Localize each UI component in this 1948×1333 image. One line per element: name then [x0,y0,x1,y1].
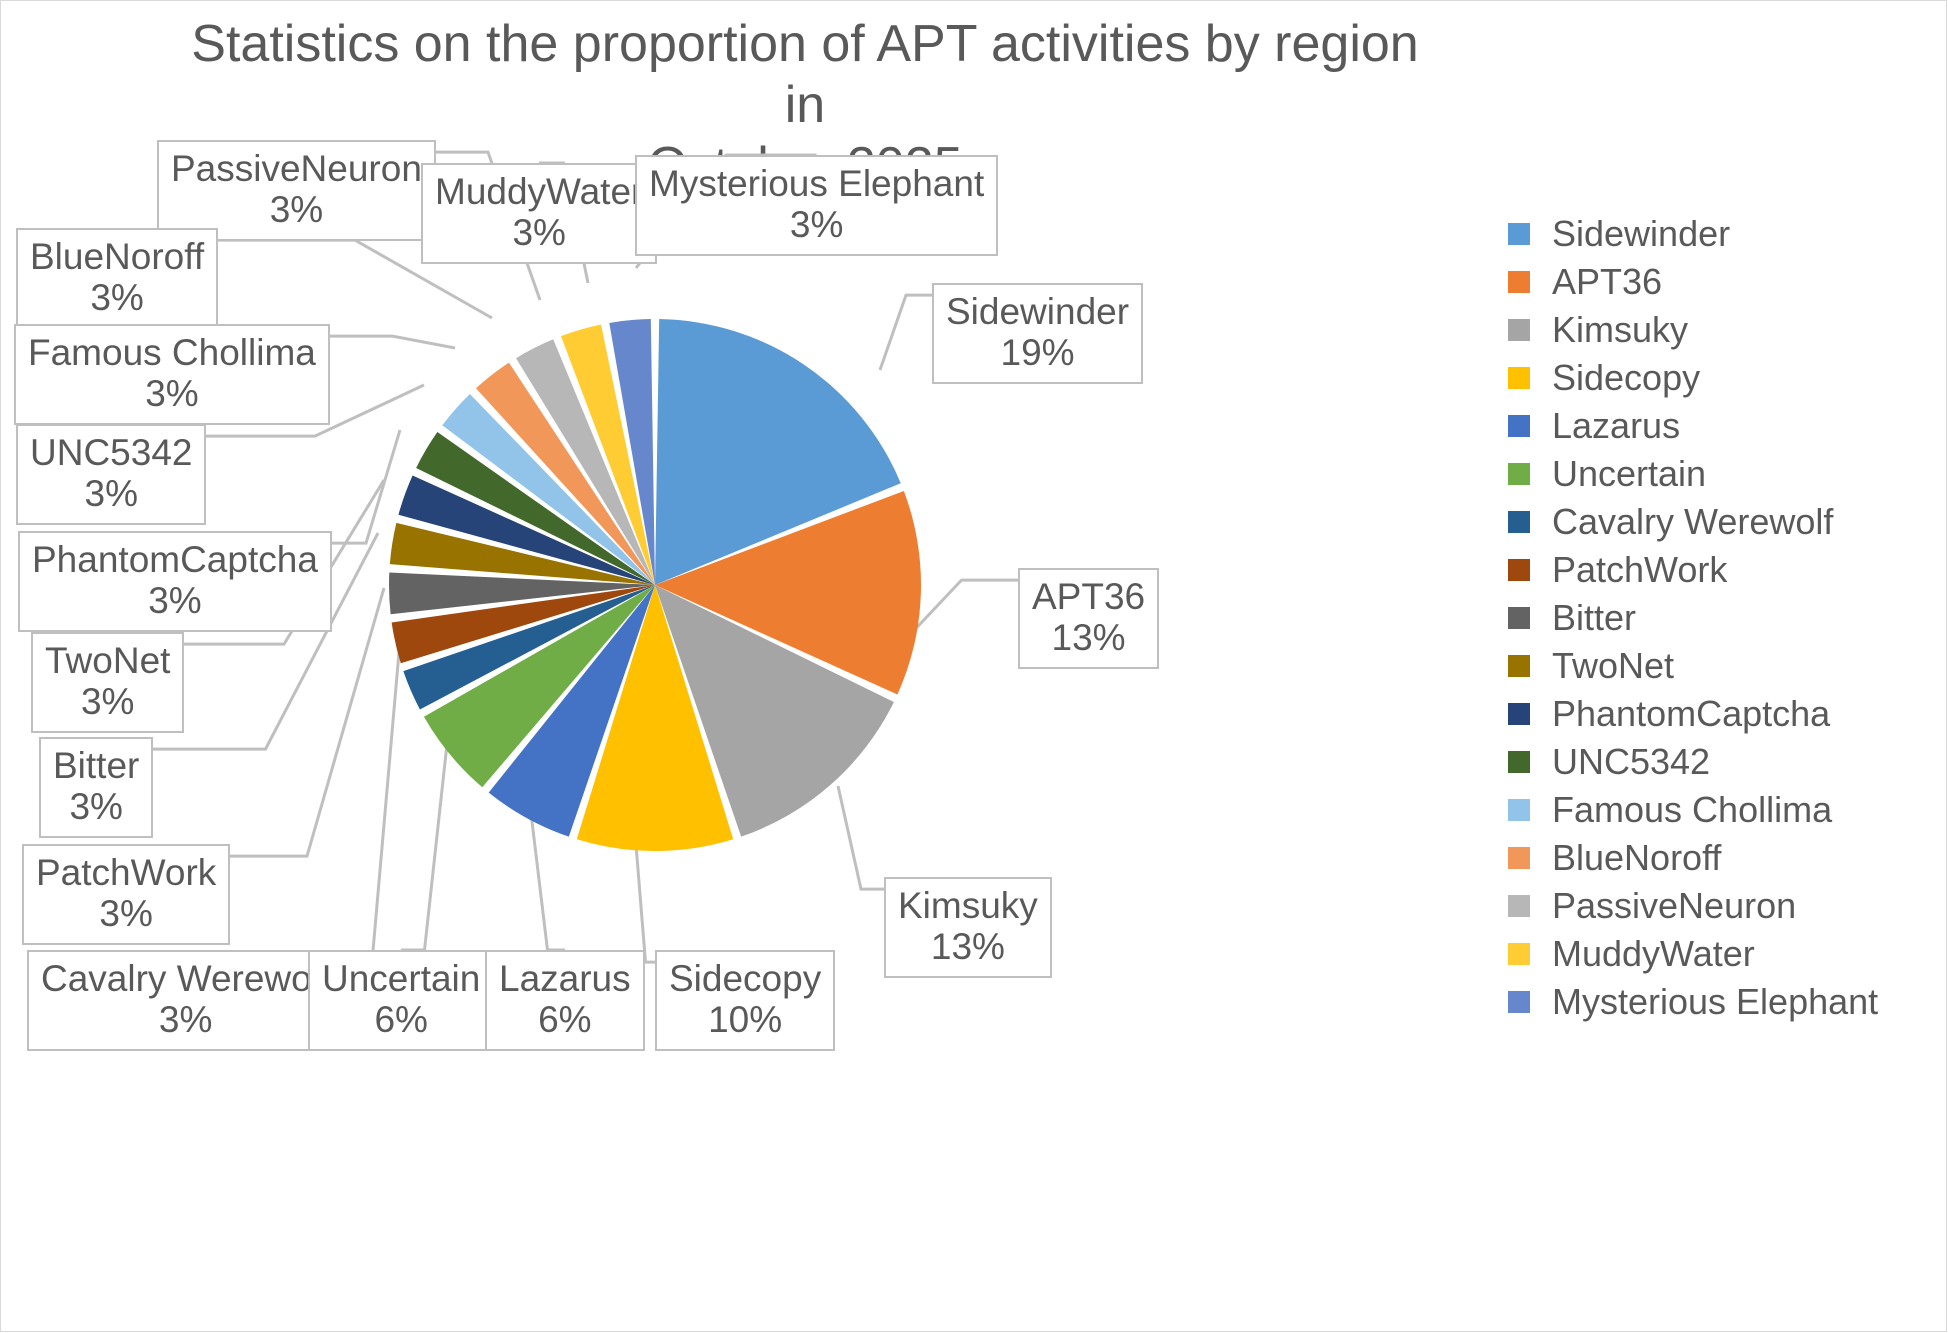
legend-item[interactable]: Sidecopy [1508,354,1938,402]
legend-item-label: Kimsuky [1552,312,1688,348]
data-label-percent: 6% [499,999,631,1040]
pie-slices [389,319,921,851]
data-label-percent: 10% [669,999,821,1040]
legend-item-label: UNC5342 [1552,744,1710,780]
leader-line [332,430,400,543]
data-label-name: PassiveNeuron [171,148,422,189]
leader-line [905,580,1018,640]
legend-item-label: Mysterious Elephant [1552,984,1878,1020]
data-label-percent: 3% [28,373,316,414]
data-label-name: Cavalry Werewolf [41,958,330,999]
legend-swatch-icon [1508,799,1530,821]
legend-item-label: PassiveNeuron [1552,888,1796,924]
data-label-name: BlueNoroff [30,236,204,277]
legend-swatch-icon [1508,703,1530,725]
data-label-percent: 3% [41,999,330,1040]
data-label-callout[interactable]: Bitter3% [39,737,153,838]
pie-chart-container: Statistics on the proportion of APT acti… [0,0,1948,1333]
legend-item[interactable]: MuddyWater [1508,930,1938,978]
legend-swatch-icon [1508,511,1530,533]
data-label-name: Famous Chollima [28,332,316,373]
leader-line [344,641,400,962]
legend-item[interactable]: PhantomCaptcha [1508,690,1938,738]
leader-line [401,735,448,950]
data-label-name: Sidewinder [946,291,1129,332]
data-label-callout[interactable]: Sidecopy10% [655,950,835,1051]
legend-swatch-icon [1508,847,1530,869]
legend-item-label: Lazarus [1552,408,1680,444]
legend-item-label: Bitter [1552,600,1636,636]
legend-item-label: Sidecopy [1552,360,1700,396]
legend-item-label: TwoNet [1552,648,1674,684]
data-label-name: Bitter [53,745,139,786]
data-label-name: PhantomCaptcha [32,539,318,580]
data-label-percent: 3% [45,681,170,722]
data-label-callout[interactable]: Lazarus6% [485,950,645,1051]
leader-line [880,295,932,370]
data-label-percent: 3% [32,580,318,621]
data-label-percent: 3% [30,473,192,514]
legend-item-label: PhantomCaptcha [1552,696,1830,732]
legend-item-label: Sidewinder [1552,216,1730,252]
legend-swatch-icon [1508,271,1530,293]
data-label-name: Lazarus [499,958,631,999]
legend-item[interactable]: Mysterious Elephant [1508,978,1938,1026]
data-label-callout[interactable]: PassiveNeuron3% [157,140,436,241]
legend-item-label: Cavalry Werewolf [1552,504,1833,540]
data-label-percent: 3% [53,786,139,827]
legend-swatch-icon [1508,895,1530,917]
leader-line [330,336,455,348]
data-label-callout[interactable]: Famous Chollima3% [14,324,330,425]
legend-item[interactable]: Kimsuky [1508,306,1938,354]
data-label-percent: 6% [322,999,480,1040]
legend-swatch-icon [1508,655,1530,677]
data-label-callout[interactable]: TwoNet3% [31,632,184,733]
data-label-percent: 3% [171,189,422,230]
legend-swatch-icon [1508,367,1530,389]
legend-swatch-icon [1508,319,1530,341]
legend-swatch-icon [1508,943,1530,965]
legend-swatch-icon [1508,751,1530,773]
legend-item[interactable]: APT36 [1508,258,1938,306]
legend-item[interactable]: Famous Chollima [1508,786,1938,834]
data-label-callout[interactable]: APT3613% [1018,568,1159,669]
legend-item-label: APT36 [1552,264,1662,300]
data-label-percent: 13% [1032,617,1145,658]
legend-item[interactable]: TwoNet [1508,642,1938,690]
legend-swatch-icon [1508,991,1530,1013]
data-label-percent: 13% [898,926,1038,967]
legend-item[interactable]: Bitter [1508,594,1938,642]
data-label-name: Uncertain [322,958,480,999]
data-label-callout[interactable]: Sidewinder19% [932,283,1143,384]
data-label-callout[interactable]: UNC53423% [16,424,206,525]
data-label-name: TwoNet [45,640,170,681]
data-label-callout[interactable]: PatchWork3% [22,844,230,945]
data-label-percent: 19% [946,332,1129,373]
data-label-callout[interactable]: Uncertain6% [308,950,494,1051]
legend-item-label: PatchWork [1552,552,1727,588]
legend-item-label: Famous Chollima [1552,792,1832,828]
leader-line [636,845,655,962]
legend-item[interactable]: Lazarus [1508,402,1938,450]
legend-item-label: MuddyWater [1552,936,1755,972]
legend-item-label: Uncertain [1552,456,1706,492]
legend-swatch-icon [1508,463,1530,485]
chart-legend: SidewinderAPT36KimsukySidecopyLazarusUnc… [1508,210,1938,1026]
data-label-callout[interactable]: BlueNoroff3% [16,228,218,329]
legend-item[interactable]: UNC5342 [1508,738,1938,786]
legend-item-label: BlueNoroff [1552,840,1721,876]
data-label-percent: 3% [435,212,643,253]
data-label-name: Kimsuky [898,885,1038,926]
data-label-callout[interactable]: PhantomCaptcha3% [18,531,332,632]
data-label-callout[interactable]: Cavalry Werewolf3% [27,950,344,1051]
legend-swatch-icon [1508,607,1530,629]
legend-item[interactable]: PassiveNeuron [1508,882,1938,930]
legend-item[interactable]: PatchWork [1508,546,1938,594]
legend-item[interactable]: BlueNoroff [1508,834,1938,882]
legend-item[interactable]: Cavalry Werewolf [1508,498,1938,546]
legend-item[interactable]: Uncertain [1508,450,1938,498]
data-label-name: Sidecopy [669,958,821,999]
data-label-name: MuddyWater [435,171,643,212]
legend-swatch-icon [1508,415,1530,437]
data-label-callout[interactable]: Kimsuky13% [884,877,1052,978]
data-label-callout[interactable]: Mysterious Elephant3% [635,155,998,256]
data-label-name: PatchWork [36,852,216,893]
leader-line [838,786,884,889]
data-label-name: UNC5342 [30,432,192,473]
legend-item[interactable]: Sidewinder [1508,210,1938,258]
data-label-percent: 3% [36,893,216,934]
legend-swatch-icon [1508,559,1530,581]
data-label-name: APT36 [1032,576,1145,617]
data-label-percent: 3% [30,277,204,318]
data-label-callout[interactable]: MuddyWater3% [421,163,657,264]
data-label-percent: 3% [649,204,984,245]
legend-swatch-icon [1508,223,1530,245]
data-label-name: Mysterious Elephant [649,163,984,204]
